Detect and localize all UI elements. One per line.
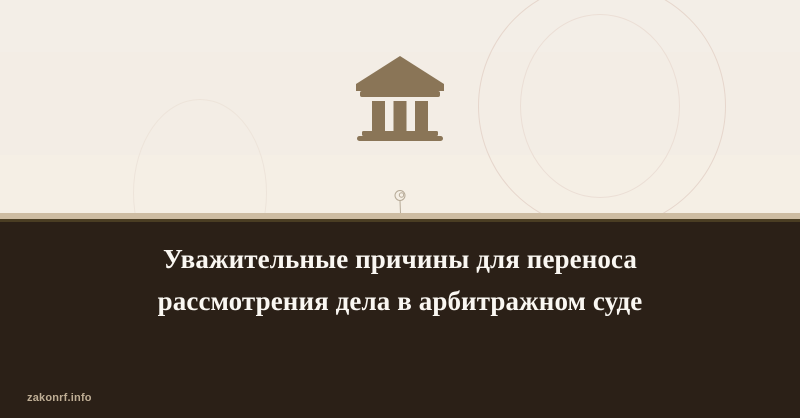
site-watermark: zakonrf.info <box>27 392 92 404</box>
page-title-line-1: Уважительные причины для переноса <box>0 238 800 280</box>
courthouse-bank-icon <box>352 53 448 141</box>
page-title: Уважительные причины для переноса рассмо… <box>0 238 800 322</box>
promo-banner: Уважительные причины для переноса рассмо… <box>0 0 800 418</box>
decorative-circle-right-inner <box>520 14 680 198</box>
sprout-ornament-icon <box>389 189 413 213</box>
page-title-line-2: рассмотрения дела в арбитражном суде <box>0 280 800 322</box>
hero-upper-panel <box>0 0 800 213</box>
